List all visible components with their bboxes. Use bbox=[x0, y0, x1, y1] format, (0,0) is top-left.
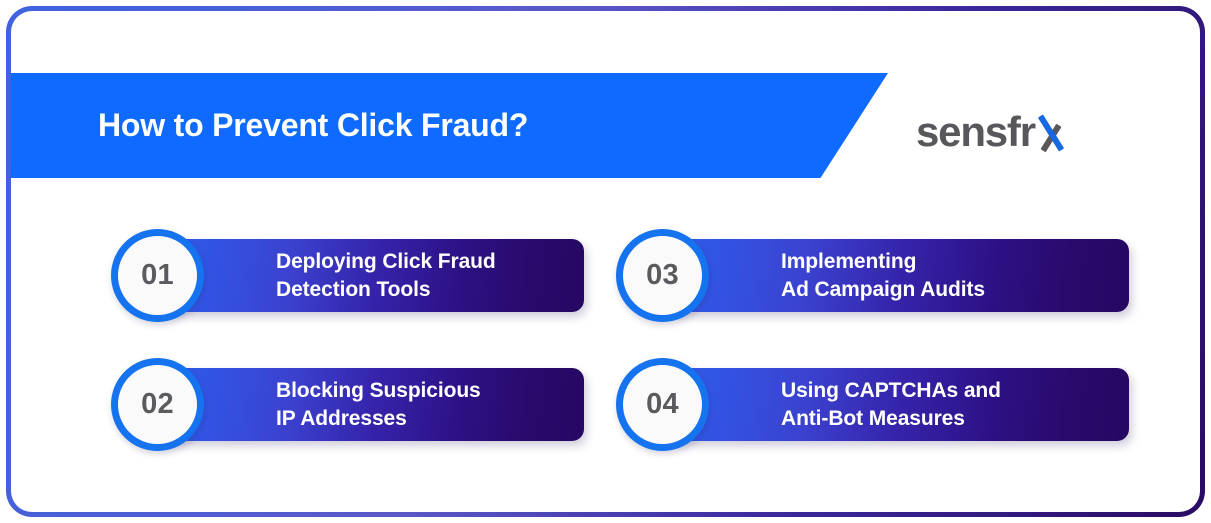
list-item-number-badge: 04 bbox=[616, 358, 709, 451]
list-item-label: Deploying Click Fraud Detection Tools bbox=[276, 248, 496, 304]
list-item-number-badge: 03 bbox=[616, 229, 709, 322]
list-item[interactable]: Blocking Suspicious IP Addresses bbox=[163, 368, 584, 441]
list-item-number: 02 bbox=[141, 388, 174, 421]
page-title: How to Prevent Click Fraud? bbox=[98, 107, 528, 144]
infographic-frame: How to Prevent Click Fraud? sensfr Deplo… bbox=[6, 6, 1205, 517]
list-item-label: Blocking Suspicious IP Addresses bbox=[276, 377, 481, 433]
list-item[interactable]: Using CAPTCHAs and Anti-Bot Measures bbox=[668, 368, 1129, 441]
list-item-number: 01 bbox=[141, 259, 174, 292]
brand-x-icon bbox=[1036, 111, 1066, 153]
list-item-number-badge: 02 bbox=[111, 358, 204, 451]
list-item-label: Using CAPTCHAs and Anti-Bot Measures bbox=[781, 377, 1001, 433]
list-item-label: Implementing Ad Campaign Audits bbox=[781, 248, 985, 304]
list-item[interactable]: Deploying Click Fraud Detection Tools bbox=[163, 239, 584, 312]
list-item-number: 04 bbox=[646, 388, 679, 421]
brand-name-text: sensfr bbox=[916, 111, 1035, 153]
list-item[interactable]: Implementing Ad Campaign Audits bbox=[668, 239, 1129, 312]
brand-logo: sensfr bbox=[916, 108, 1066, 156]
title-banner: How to Prevent Click Fraud? bbox=[11, 73, 888, 178]
list-item-number: 03 bbox=[646, 259, 679, 292]
list-item-number-badge: 01 bbox=[111, 229, 204, 322]
